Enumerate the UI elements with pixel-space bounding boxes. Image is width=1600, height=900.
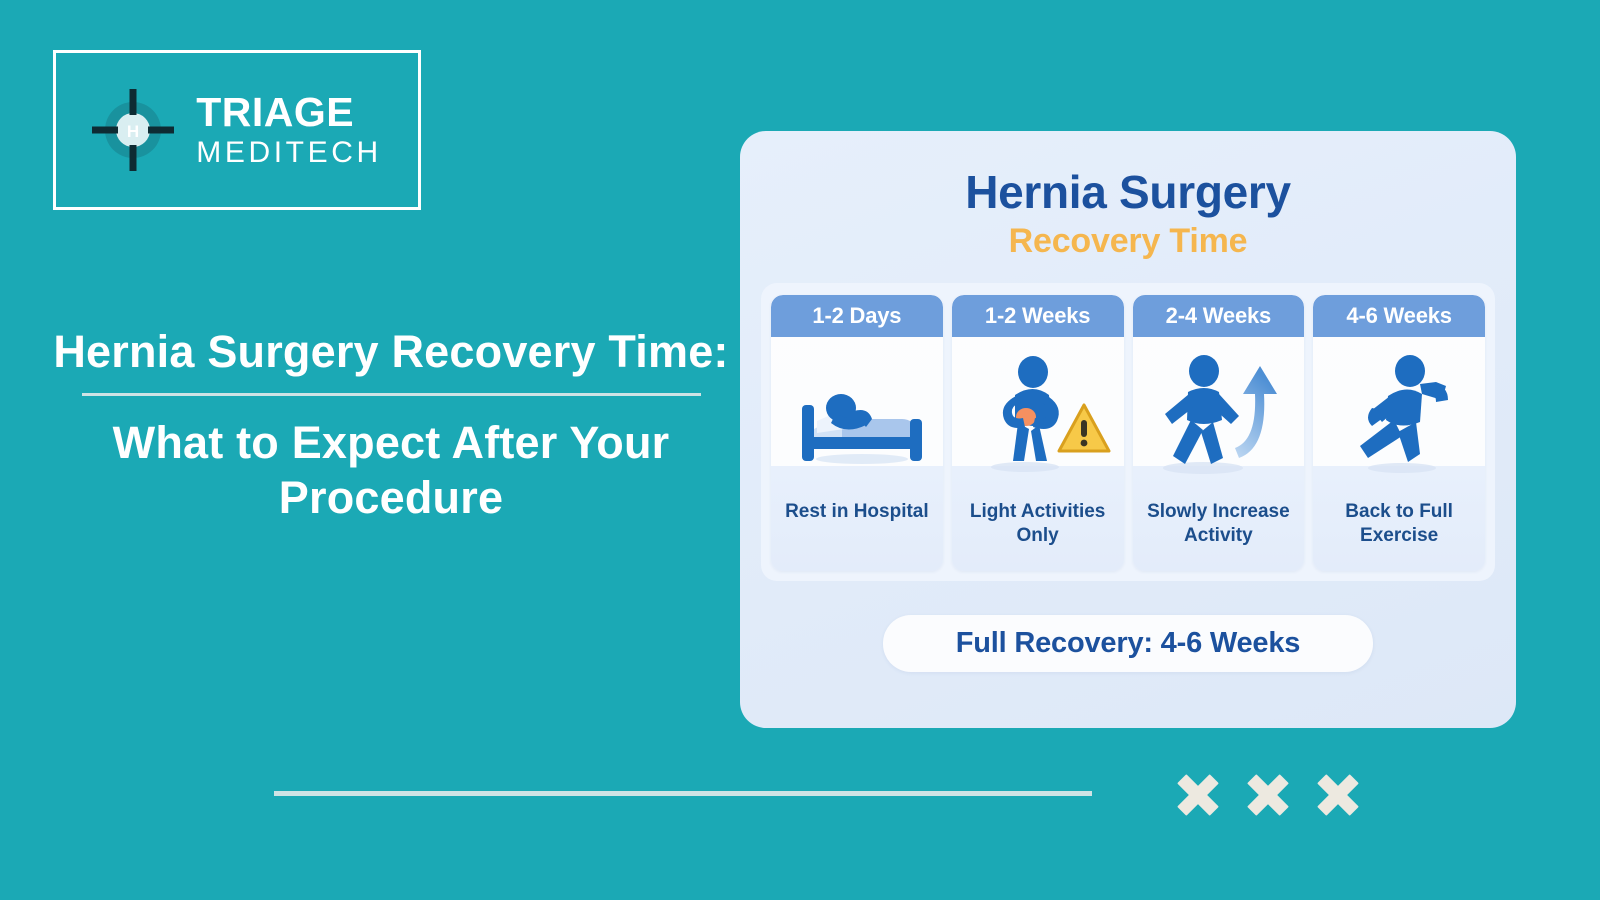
step-label: Back to Full Exercise [1313,493,1485,571]
brand-name-secondary: MEDITECH [196,138,381,168]
brand-logo-box: H TRIAGE MEDITECH [53,50,421,210]
full-recovery-banner: Full Recovery: 4-6 Weeks [883,615,1373,672]
infographic-subtitle: Recovery Time [740,222,1516,261]
headline-line-2: What to Expect After Your Procedure [46,416,736,526]
svg-text:H: H [127,122,139,141]
x-mark-decoration [1175,772,1361,818]
headline-line-1: Hernia Surgery Recovery Time: [46,325,736,380]
bottom-divider [274,791,1092,796]
x-mark-icon [1175,772,1221,818]
page-headline: Hernia Surgery Recovery Time: What to Ex… [46,325,736,526]
step-card[interactable]: 1-2 Weeks [952,295,1124,571]
step-duration: 1-2 Days [771,295,943,337]
step-label: Slowly Increase Activity [1133,493,1305,571]
walking-person-up-arrow-icon [1133,337,1305,493]
step-card[interactable]: 1-2 Days [771,295,943,571]
steps-container: 1-2 Days [761,283,1495,581]
brand-wordmark: TRIAGE MEDITECH [196,92,381,168]
step-card[interactable]: 4-6 Weeks [1313,295,1485,571]
x-mark-icon [1245,772,1291,818]
brand-name-primary: TRIAGE [196,92,354,133]
step-label: Light Activities Only [952,493,1124,571]
step-card[interactable]: 2-4 Weeks [1133,295,1305,571]
infographic-title: Hernia Surgery [740,131,1516,219]
person-holding-abdomen-warning-icon [952,337,1124,493]
step-duration: 4-6 Weeks [1313,295,1485,337]
step-duration: 1-2 Weeks [952,295,1124,337]
running-person-icon [1313,337,1485,493]
patient-in-hospital-bed-icon [771,337,943,493]
step-duration: 2-4 Weeks [1133,295,1305,337]
x-mark-icon [1315,772,1361,818]
infographic-panel: Hernia Surgery Recovery Time 1-2 Days [740,131,1516,728]
headline-divider [82,393,701,396]
step-label: Rest in Hospital [771,493,943,571]
crosshair-target-icon: H [92,89,174,171]
